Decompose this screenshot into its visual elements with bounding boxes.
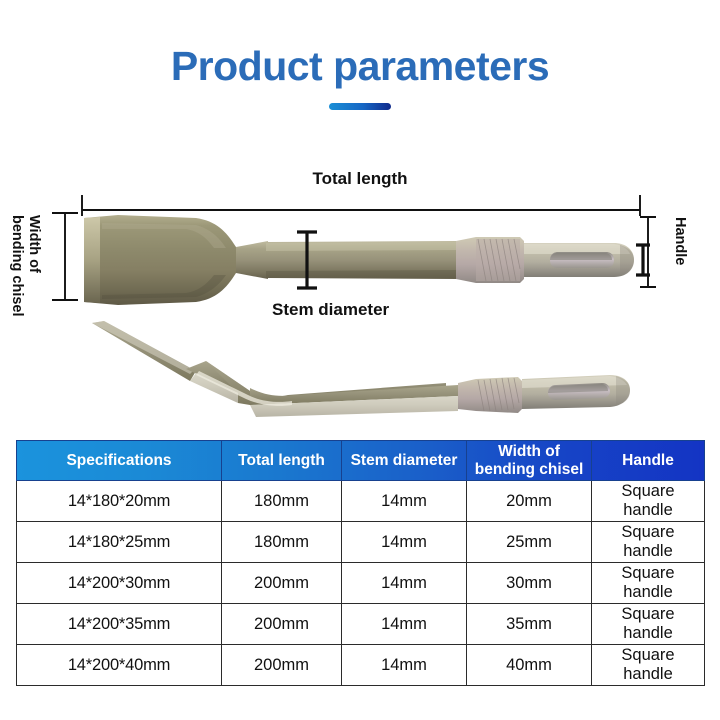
width-of-bending-chisel-label: Width of bending chisel [9,215,42,317]
column-header-total-length: Total length [222,441,342,481]
cell-stem-diameter: 14mm [342,481,467,522]
column-header-width-line2: bending chisel [475,461,584,478]
column-header-specifications: Specifications [17,441,222,481]
column-header-width-line1: Width of [498,443,560,460]
table-row: 14*180*20mm 180mm 14mm 20mm Square handl… [17,481,705,522]
product-specifications-table: Specifications Total length Stem diamete… [16,440,705,686]
cell-stem-diameter: 14mm [342,563,467,604]
table-header: Specifications Total length Stem diamete… [17,441,705,481]
table-body: 14*180*20mm 180mm 14mm 20mm Square handl… [17,481,705,686]
product-parameters-page: Product parameters [0,0,720,720]
bent-chisel-side-view [92,321,630,417]
cell-handle: Square handle [592,604,705,645]
cell-handle: Square handle [592,522,705,563]
column-header-handle: Handle [592,441,705,481]
cell-width-of-bending-chisel: 35mm [467,604,592,645]
cell-stem-diameter: 14mm [342,604,467,645]
handle-label: Handle [672,217,688,265]
table-row: 14*200*30mm 200mm 14mm 30mm Square handl… [17,563,705,604]
cell-handle: Square handle [592,645,705,686]
page-title: Product parameters [0,44,720,88]
cell-stem-diameter: 14mm [342,645,467,686]
width-of-bending-chisel-label-line2: bending chisel [9,215,25,317]
column-header-stem-diameter: Stem diameter [342,441,467,481]
cell-total-length: 200mm [222,563,342,604]
cell-width-of-bending-chisel: 30mm [467,563,592,604]
total-length-label: Total length [312,169,407,188]
table-row: 14*200*35mm 200mm 14mm 35mm Square handl… [17,604,705,645]
chisel-dimension-diagram: Total length Width of bending chisel [0,155,720,420]
table-row: 14*180*25mm 180mm 14mm 25mm Square handl… [17,522,705,563]
flat-spade-chisel-top-view [84,215,634,305]
handle-dimension [636,217,656,287]
title-accent-bar [329,103,391,110]
cell-total-length: 180mm [222,481,342,522]
stem-diameter-label: Stem diameter [272,300,390,319]
cell-specifications: 14*200*35mm [17,604,222,645]
cell-specifications: 14*200*30mm [17,563,222,604]
cell-total-length: 180mm [222,522,342,563]
table-header-row: Specifications Total length Stem diamete… [17,441,705,481]
cell-handle: Square handle [592,481,705,522]
cell-total-length: 200mm [222,604,342,645]
total-length-dimension [82,195,640,216]
cell-total-length: 200mm [222,645,342,686]
column-header-width-of-bending-chisel: Width of bending chisel [467,441,592,481]
width-of-bending-chisel-label-line1: Width of [26,215,42,273]
cell-specifications: 14*200*40mm [17,645,222,686]
cell-specifications: 14*180*20mm [17,481,222,522]
title-block: Product parameters [0,44,720,110]
specifications-table-container: Specifications Total length Stem diamete… [16,440,704,686]
cell-specifications: 14*180*25mm [17,522,222,563]
cell-width-of-bending-chisel: 20mm [467,481,592,522]
cell-stem-diameter: 14mm [342,522,467,563]
cell-width-of-bending-chisel: 40mm [467,645,592,686]
cell-handle: Square handle [592,563,705,604]
cell-width-of-bending-chisel: 25mm [467,522,592,563]
table-row: 14*200*40mm 200mm 14mm 40mm Square handl… [17,645,705,686]
width-of-bending-chisel-dimension [52,213,78,300]
